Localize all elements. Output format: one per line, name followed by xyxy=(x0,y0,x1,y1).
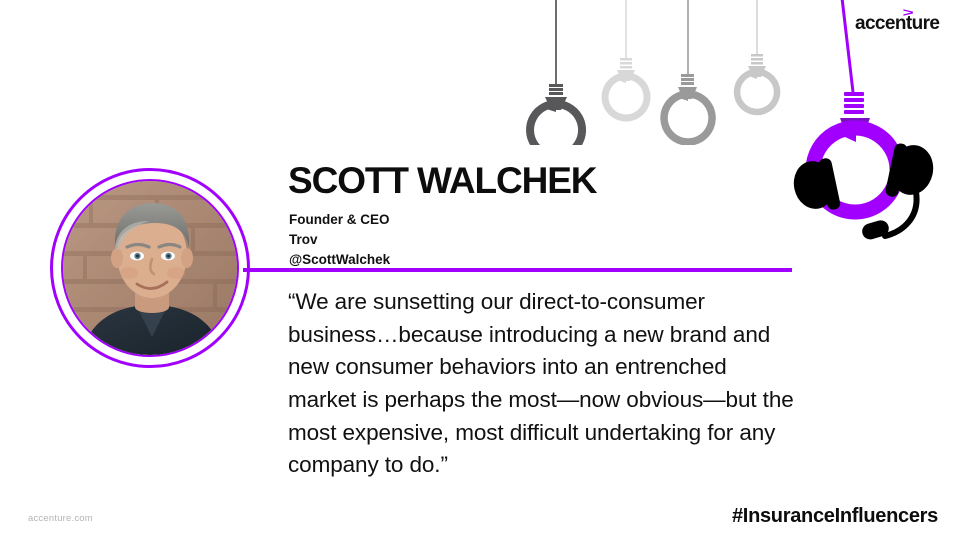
bulb-mid-1 xyxy=(664,74,712,142)
hanging-lightbulbs-decoration xyxy=(505,0,805,145)
slide-canvas: accenture > xyxy=(0,0,960,540)
accenture-website-label: accenture.com xyxy=(28,513,93,524)
speaker-meta: Founder & CEO Trov @ScottWalchek xyxy=(289,210,390,270)
speaker-company: Trov xyxy=(289,230,390,250)
bulb-light-2 xyxy=(737,54,777,112)
bulb-light-1 xyxy=(605,58,647,118)
speaker-title: Founder & CEO xyxy=(289,210,390,230)
bulb-dark-1 xyxy=(530,84,582,145)
speaker-name: SCOTT WALCHEK xyxy=(288,162,596,201)
speaker-handle: @ScottWalchek xyxy=(289,250,390,270)
quote-text: “We are sunsetting our direct-to-consume… xyxy=(288,286,800,482)
avatar-inner-ring xyxy=(61,179,239,357)
purple-lightbulb-with-headset xyxy=(790,0,960,250)
speaker-avatar xyxy=(50,168,250,368)
speaker-photo xyxy=(63,181,237,355)
bulb-screw-base xyxy=(844,92,864,114)
campaign-hashtag: #InsuranceInfluencers xyxy=(732,505,938,528)
